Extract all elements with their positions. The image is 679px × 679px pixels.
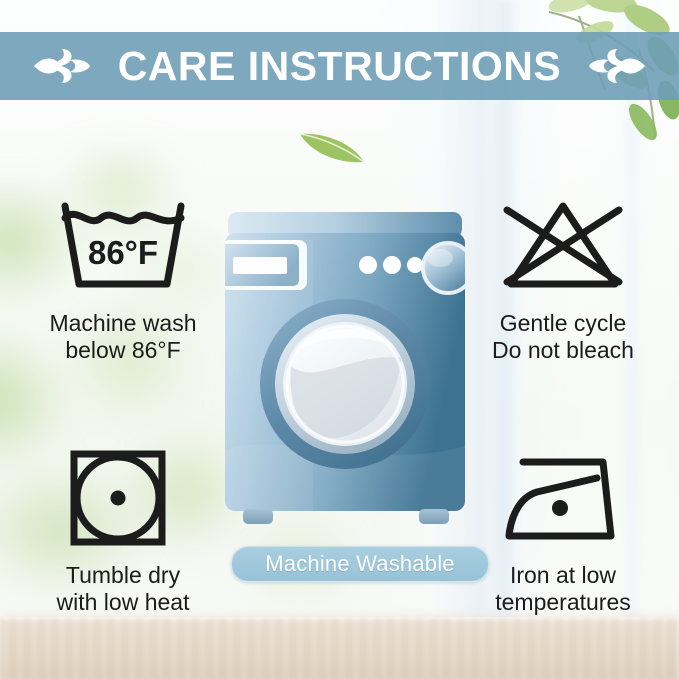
floating-leaf-icon xyxy=(296,122,368,168)
caption-line-2: below 86°F xyxy=(49,337,196,364)
washing-machine-illustration xyxy=(225,200,465,540)
page-title: CARE INSTRUCTIONS xyxy=(118,43,562,90)
care-instructions-banner: CARE INSTRUCTIONS xyxy=(0,32,679,100)
badge-label: Machine Washable xyxy=(265,551,454,577)
machine-feet xyxy=(243,509,449,524)
caption-line-1: Iron at low xyxy=(495,562,631,589)
wash-temperature-label: 86°F xyxy=(88,234,158,271)
care-item-caption: Iron at low temperatures xyxy=(495,562,631,616)
caption-line-1: Machine wash xyxy=(49,310,196,337)
tumble-dry-low-heat-icon xyxy=(53,448,193,553)
iron-low-temperature-icon xyxy=(493,452,633,553)
care-item-caption: Gentle cycle Do not bleach xyxy=(492,310,634,364)
care-item-caption: Machine wash below 86°F xyxy=(49,310,196,364)
heat-level-dot xyxy=(552,500,568,516)
heat-level-dot xyxy=(111,491,126,506)
caption-line-1: Tumble dry xyxy=(57,562,190,589)
machine-door xyxy=(260,299,430,469)
detergent-drawer xyxy=(225,240,307,290)
caption-line-1: Gentle cycle xyxy=(492,310,634,337)
fleur-de-lis-icon-right xyxy=(587,45,647,87)
care-item-iron: Iron at low temperatures xyxy=(456,452,670,616)
machine-washable-badge: Machine Washable xyxy=(231,546,489,582)
care-instructions-infographic: CARE INSTRUCTIONS 86° xyxy=(0,0,679,679)
care-item-do-not-bleach: Gentle cycle Do not bleach xyxy=(456,196,670,364)
wood-grain-texture xyxy=(0,617,679,679)
care-item-tumble-dry: Tumble dry with low heat xyxy=(18,448,228,616)
caption-line-2: Do not bleach xyxy=(492,337,634,364)
care-item-caption: Tumble dry with low heat xyxy=(57,562,190,616)
caption-line-2: temperatures xyxy=(495,589,631,616)
do-not-bleach-triangle-icon xyxy=(493,196,633,301)
fleur-de-lis-icon-left xyxy=(32,45,92,87)
control-indicator-lights xyxy=(359,256,423,274)
wash-tub-icon: 86°F xyxy=(53,196,193,301)
caption-line-2: with low heat xyxy=(57,589,190,616)
care-item-machine-wash: 86°F Machine wash below 86°F xyxy=(18,196,228,364)
